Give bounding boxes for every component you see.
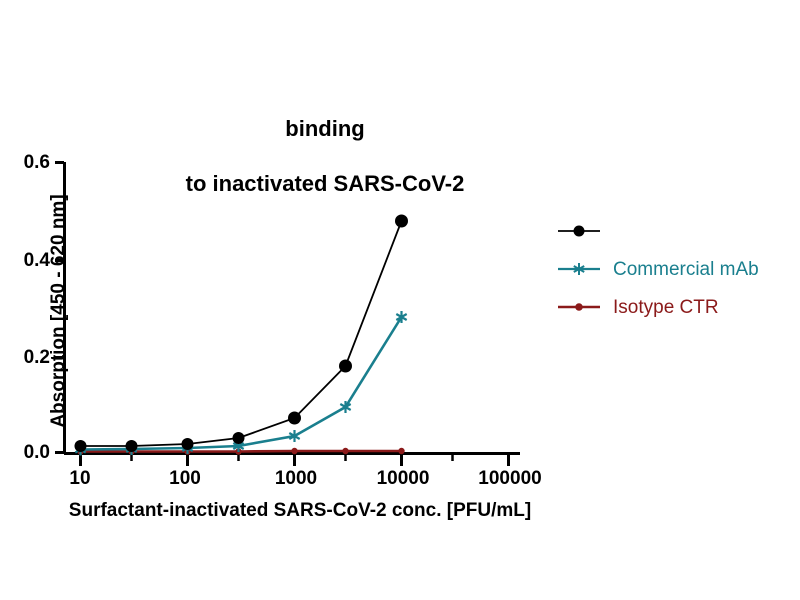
- y-axis-ticks: [55, 163, 64, 453]
- legend-marker-red-circle-icon: [556, 296, 602, 318]
- legend-item-0: [556, 212, 800, 250]
- legend-marker-teal-star-icon: [556, 258, 602, 280]
- chart-legend: Commercial mAb Isotype CTR: [556, 212, 800, 326]
- legend-item-commercial-mab: Commercial mAb: [556, 250, 800, 288]
- legend-marker-black-circle-icon: [556, 220, 602, 242]
- chart-figure: binding to inactivated SARS-CoV-2 Absorp…: [0, 0, 800, 600]
- series-unlabeled-black: [75, 215, 409, 453]
- legend-label-commercial-mab: Commercial mAb: [613, 260, 759, 279]
- legend-item-isotype-ctr: Isotype CTR: [556, 288, 800, 326]
- legend-label-isotype-ctr: Isotype CTR: [613, 298, 719, 317]
